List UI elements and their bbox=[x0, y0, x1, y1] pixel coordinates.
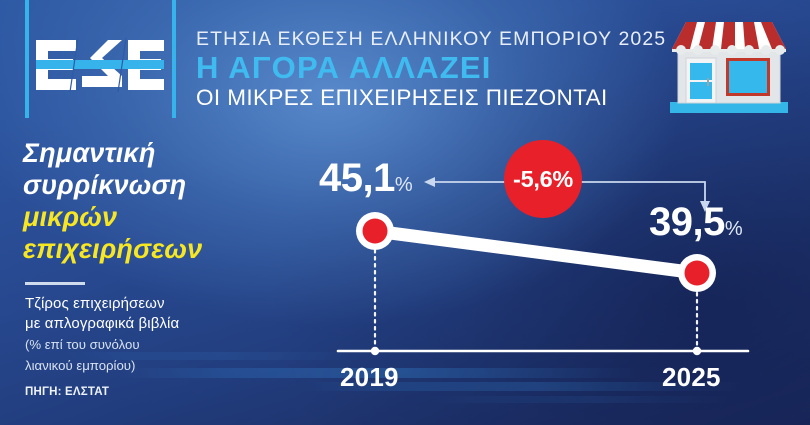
value-2019-number: 45,1 bbox=[319, 156, 395, 200]
note-line-1: (% επί του συνόλου bbox=[25, 336, 285, 354]
headline-line-2: συρρίκνωση bbox=[23, 169, 273, 201]
axis-tick-2025 bbox=[693, 347, 701, 355]
header-line-1: ΕΤΗΣΙΑ ΕΚΘΕΣΗ ΕΛΛΗΝΙΚΟΥ ΕΜΠΟΡΙΟΥ 2025 bbox=[196, 28, 656, 51]
headline-line-3: μικρών bbox=[23, 201, 273, 233]
accent-bar-left bbox=[25, 0, 29, 118]
note-line-2: λιανικού εμπορίου) bbox=[25, 357, 285, 375]
header-line-2: Η ΑΓΟΡΑ ΑΛΛΑΖΕΙ bbox=[196, 50, 656, 85]
header-text-block: ΕΤΗΣΙΑ ΕΚΘΕΣΗ ΕΛΛΗΝΙΚΟΥ ΕΜΠΟΡΙΟΥ 2025 Η … bbox=[196, 28, 656, 111]
value-label-2019: 45,1% bbox=[319, 156, 413, 201]
value-2025-percent: % bbox=[725, 218, 743, 240]
value-label-2025: 39,5% bbox=[649, 200, 743, 245]
decorative-band bbox=[430, 396, 730, 403]
data-point-2019 bbox=[356, 212, 394, 250]
headline-divider bbox=[25, 282, 85, 285]
subtitle-line-2: με απλογραφικά βιβλία bbox=[25, 314, 285, 334]
delta-badge-label: -5,6% bbox=[513, 166, 573, 193]
year-label-2025: 2025 bbox=[662, 362, 721, 393]
infographic-root: ΕΤΗΣΙΑ ΕΚΘΕΣΗ ΕΛΛΗΝΙΚΟΥ ΕΜΠΟΡΙΟΥ 2025 Η … bbox=[0, 0, 810, 425]
data-point-2025 bbox=[678, 254, 716, 292]
delta-arrow-head-left bbox=[424, 177, 435, 187]
storefront-icon bbox=[664, 14, 794, 119]
axis-tick-2019 bbox=[371, 347, 379, 355]
subtitle-line-1: Τζίρος επιχειρήσεων bbox=[25, 294, 285, 314]
year-label-2019: 2019 bbox=[340, 362, 399, 393]
headline-line-4: επιχειρήσεων bbox=[23, 233, 273, 265]
source-label: ΠΗΓΗ: ΕΛΣΤΑΤ bbox=[25, 386, 109, 398]
left-subtitle-block: Τζίρος επιχειρήσεων με απλογραφικά βιβλί… bbox=[25, 294, 285, 374]
header-line-3: ΟΙ ΜΙΚΡΕΣ ΕΠΙΧΕΙΡΗΣΕΙΣ ΠΙΕΖΟΝΤΑΙ bbox=[196, 84, 656, 111]
value-2019-percent: % bbox=[395, 174, 413, 196]
delta-badge: -5,6% bbox=[504, 140, 582, 218]
accent-bar-right bbox=[172, 0, 176, 118]
esee-logo bbox=[34, 36, 166, 98]
value-2025-number: 39,5 bbox=[649, 200, 725, 244]
left-headline: Σημαντική συρρίκνωση μικρών επιχειρήσεων bbox=[23, 137, 273, 265]
headline-line-1: Σημαντική bbox=[23, 137, 273, 169]
